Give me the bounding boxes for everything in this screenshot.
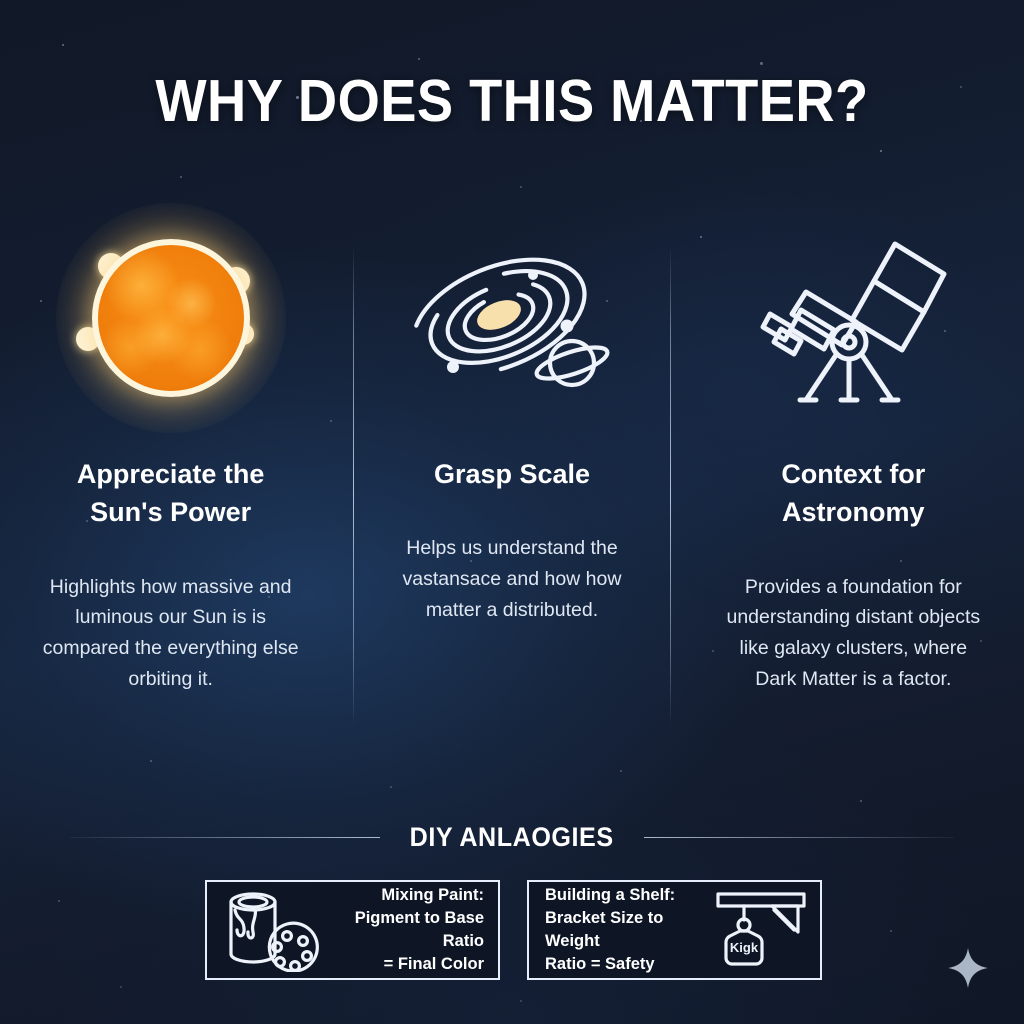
galaxy-icon (407, 233, 617, 403)
diy-card-line1: Mixing Paint: (331, 884, 484, 907)
diy-card-line1: Building a Shelf: (545, 884, 700, 907)
divider-rule-right (644, 837, 954, 838)
column-grasp-scale: Grasp Scale Helps us understand the vast… (341, 210, 682, 740)
divider-rule-left (70, 837, 380, 838)
page-title: WHY DOES THIS MATTER? (41, 72, 983, 131)
diy-section-header: DIY ANLAOGIES (0, 822, 1024, 853)
diy-card-line3: = Final Color (331, 953, 484, 976)
diy-card-text: Mixing Paint: Pigment to Base Ratio = Fi… (331, 884, 488, 975)
shelf-bracket-icon: Kigk (706, 888, 810, 972)
weight-label: Kigk (730, 940, 759, 955)
column-icon-slot (18, 210, 323, 425)
column-heading: Grasp Scale (434, 455, 590, 493)
sun-icon (76, 223, 266, 413)
telescope-icon (748, 228, 958, 408)
column-body-text: Highlights how massive and luminous our … (37, 572, 305, 695)
diy-card-building-shelf[interactable]: Building a Shelf: Bracket Size to Weight… (527, 880, 822, 980)
diy-card-line2: Bracket Size to Weight (545, 907, 700, 953)
diy-card-line2: Pigment to Base Ratio (331, 907, 484, 953)
column-body-text: Helps us understand the vastansace and h… (378, 533, 646, 625)
infographic-poster: WHY DOES THIS MATTER? Appreciate the Sun… (0, 0, 1024, 1024)
paint-can-icon (217, 888, 325, 972)
diy-cards-container: Mixing Paint: Pigment to Base Ratio = Fi… (205, 880, 822, 980)
columns-container: Appreciate the Sun's Power Highlights ho… (0, 210, 1024, 740)
column-heading: Appreciate the Sun's Power (38, 455, 303, 532)
diy-card-text: Building a Shelf: Bracket Size to Weight… (539, 884, 700, 975)
column-icon-slot (359, 210, 664, 425)
sparkle-icon (946, 946, 990, 990)
column-astronomy-context: Context for Astronomy Provides a foundat… (683, 210, 1024, 740)
sun-disc (92, 239, 250, 397)
diy-card-line3: Ratio = Safety (545, 953, 700, 976)
column-body-text: Provides a foundation for understanding … (719, 572, 987, 695)
column-heading: Context for Astronomy (721, 455, 986, 532)
diy-section-title: DIY ANLAOGIES (410, 822, 614, 853)
column-icon-slot (701, 210, 1006, 425)
column-sun-power: Appreciate the Sun's Power Highlights ho… (0, 210, 341, 740)
diy-card-mixing-paint[interactable]: Mixing Paint: Pigment to Base Ratio = Fi… (205, 880, 500, 980)
